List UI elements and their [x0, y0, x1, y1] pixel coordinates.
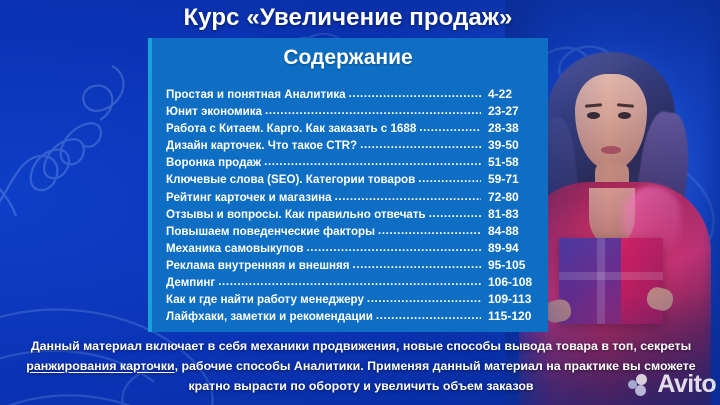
toc-leader-dots: ........................................… — [218, 274, 481, 290]
toc-page-range: 84-88 — [484, 223, 534, 239]
avito-watermark: Avito — [628, 372, 716, 397]
toc-leader-dots: ........................................… — [376, 308, 481, 324]
toc-page-range: 115-120 — [484, 308, 534, 324]
toc-leader-dots: ........................................… — [264, 154, 481, 170]
toc-row[interactable]: Механика самовыкупов....................… — [166, 240, 534, 257]
toc-leader-dots: ........................................… — [418, 171, 481, 187]
toc-leader-dots: ........................................… — [335, 189, 481, 205]
toc-page-range: 59-71 — [484, 171, 534, 187]
toc-label: Как и где найти работу менеджеру — [166, 292, 364, 308]
toc-label: Реклама внутренняя и внешняя — [166, 258, 350, 274]
toc-label: Рейтинг карточек и магазина — [166, 190, 332, 206]
toc-row[interactable]: Реклама внутренняя и внешняя............… — [166, 257, 534, 274]
toc-page-range: 72-80 — [484, 189, 534, 205]
toc-page-range: 89-94 — [484, 240, 534, 256]
panel-title: Содержание — [148, 46, 548, 70]
toc-label: Простая и понятная Аналитика — [166, 87, 346, 103]
toc-row[interactable]: Демпинг.................................… — [166, 274, 534, 291]
toc-label: Дизайн карточек. Что такое CTR? — [166, 138, 357, 154]
content-panel: Содержание Простая и понятная Аналитика.… — [148, 38, 548, 332]
toc-label: Демпинг — [166, 275, 215, 291]
toc-leader-dots: ........................................… — [306, 240, 481, 256]
toc-page-range: 4-22 — [484, 86, 534, 102]
toc-row[interactable]: Дизайн карточек. Что такое CTR?.........… — [166, 137, 534, 154]
toc-label: Отзывы и вопросы. Как правильно отвечать — [166, 207, 426, 223]
toc-label: Работа с Китаем. Карго. Как заказать с 1… — [166, 121, 416, 137]
toc-label: Воронка продаж — [166, 155, 261, 171]
toc-row[interactable]: Повышаем поведенческие факторы..........… — [166, 223, 534, 240]
toc-label: Механика самовыкупов — [166, 241, 303, 257]
toc-page-range: 109-113 — [484, 291, 534, 307]
toc-row[interactable]: Простая и понятная Аналитика............… — [166, 86, 534, 103]
slide-headline: Курс «Увеличение продаж» — [148, 4, 548, 32]
toc-leader-dots: ........................................… — [360, 137, 481, 153]
toc-leader-dots: ........................................… — [378, 223, 481, 239]
toc-label: Повышаем поведенческие факторы — [166, 224, 375, 240]
toc-row[interactable]: Работа с Китаем. Карго. Как заказать с 1… — [166, 120, 534, 137]
slide-canvas: Курс «Увеличение продаж» Содержание Прос… — [0, 0, 720, 405]
toc-page-range: 23-27 — [484, 103, 534, 119]
toc-row[interactable]: Ключевые слова (SEO). Категории товаров.… — [166, 171, 534, 188]
toc-label: Ключевые слова (SEO). Категории товаров — [166, 172, 415, 188]
toc-leader-dots: ........................................… — [265, 103, 481, 119]
toc-row[interactable]: Воронка продаж..........................… — [166, 154, 534, 171]
toc-leader-dots: ........................................… — [367, 291, 481, 307]
toc-row[interactable]: Рейтинг карточек и магазина.............… — [166, 189, 534, 206]
toc-page-range: 106-108 — [484, 274, 534, 290]
description-part-two: , рабочие способы Аналитики. Применяя да… — [175, 359, 696, 393]
toc-leader-dots: ........................................… — [429, 206, 481, 222]
description-highlight: ранжирования карточки — [26, 359, 174, 373]
toc-page-range: 39-50 — [484, 137, 534, 153]
toc-leader-dots: ........................................… — [419, 120, 481, 136]
watermark-label: Avito — [657, 372, 716, 397]
table-of-contents: Простая и понятная Аналитика............… — [148, 86, 548, 325]
logo-dot-3 — [635, 385, 646, 396]
slide-description: Данный материал включает в себя механики… — [16, 336, 706, 396]
toc-row[interactable]: Как и где найти работу менеджеру........… — [166, 291, 534, 308]
toc-row[interactable]: Юнит экономика..........................… — [166, 103, 534, 120]
avito-logo-icon — [628, 374, 654, 396]
panel-accent-stripe — [148, 38, 152, 332]
toc-page-range: 81-83 — [484, 206, 534, 222]
toc-page-range: 95-105 — [484, 257, 534, 273]
description-part-one: Данный материал включает в себя механики… — [31, 339, 691, 353]
toc-page-range: 28-38 — [484, 120, 534, 136]
toc-row[interactable]: Отзывы и вопросы. Как правильно отвечать… — [166, 206, 534, 223]
toc-leader-dots: ........................................… — [353, 257, 481, 273]
toc-page-range: 51-58 — [484, 154, 534, 170]
logo-dot-2 — [636, 374, 647, 385]
toc-leader-dots: ........................................… — [349, 86, 481, 102]
toc-label: Юнит экономика — [166, 104, 262, 120]
toc-row[interactable]: Лайфхаки, заметки и рекомендации........… — [166, 308, 534, 325]
toc-label: Лайфхаки, заметки и рекомендации — [166, 309, 373, 325]
